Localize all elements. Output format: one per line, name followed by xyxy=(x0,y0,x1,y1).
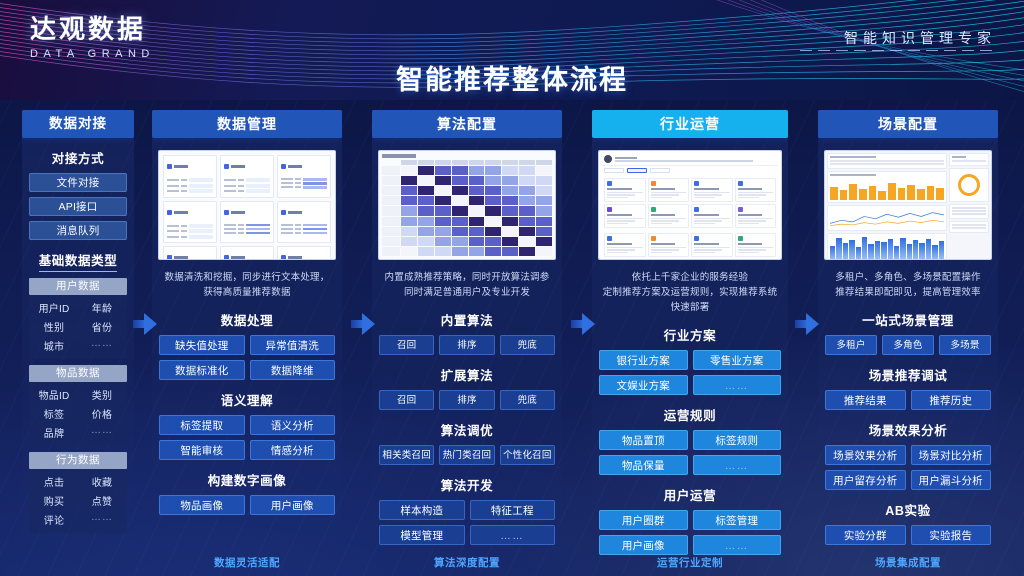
chip-user-funnel-analysis[interactable]: 用户漏斗分析 xyxy=(911,470,992,490)
group-title-scene-effect-analysis: 场景效果分析 xyxy=(818,420,998,439)
group-title-operation-rules: 运营规则 xyxy=(592,405,788,424)
column-header-data-docking: 数据对接 xyxy=(22,110,134,138)
chip-experiment-grouping[interactable]: 实验分群 xyxy=(825,525,906,545)
flow-column-algorithm-config: 算法配置 内置成熟推荐策略，同时开放算法调参同时满足普通用户及专业开发 内置算法… xyxy=(372,110,562,576)
mini-card xyxy=(220,155,274,198)
chip-recommendation-result[interactable]: 推荐结果 xyxy=(825,390,906,410)
chip-sample-construction[interactable]: 样本构造 xyxy=(379,500,465,520)
brand-tagline: 智能知识管理专家 xyxy=(844,28,996,48)
chip-multi-tenant[interactable]: 多租户 xyxy=(825,335,877,355)
field-behavior-click: 点击 xyxy=(31,474,77,489)
chip-group-operation-rules: 物品置顶 标签规则 物品保量 …… xyxy=(592,430,788,475)
field-behavior-purchase: 购买 xyxy=(31,493,77,508)
mini-heatmap-matrix xyxy=(379,151,555,259)
flow-arrow-4-icon xyxy=(795,313,819,335)
group-title-extended-algorithm: 扩展算法 xyxy=(372,365,562,384)
chip-builtin-fallback[interactable]: 兜底 xyxy=(500,335,555,355)
column-header-algorithm-config: 算法配置 xyxy=(372,110,562,138)
field-behavior-favorite: 收藏 xyxy=(79,474,125,489)
chip-group-recommendation-debug: 推荐结果 推荐历史 xyxy=(818,390,998,410)
chip-group-scene-effect-analysis: 场景效果分析 场景对比分析 用户留存分析 用户漏斗分析 xyxy=(818,445,998,490)
field-item-category: 类别 xyxy=(79,387,125,402)
chip-recommendation-history[interactable]: 推荐历史 xyxy=(911,390,992,410)
group-title-scene-recommendation-debug: 场景推荐调试 xyxy=(818,365,998,384)
mini-avatar-icon xyxy=(604,155,612,163)
chip-multi-scene[interactable]: 多场景 xyxy=(939,335,991,355)
mini-solution-card xyxy=(604,204,646,228)
field-user-id: 用户ID xyxy=(31,300,77,315)
field-item-price: 价格 xyxy=(79,406,125,421)
chip-tag-management[interactable]: 标签管理 xyxy=(693,510,782,530)
group-title-docking-method: 对接方式 xyxy=(22,148,134,167)
chip-group-user-operation: 用户圈群 标签管理 用户画像 …… xyxy=(592,510,788,555)
datatype-fields-item: 物品ID 类别 标签 价格 品牌 …… xyxy=(29,382,127,446)
group-title-algorithm-development: 算法开发 xyxy=(372,475,562,494)
chip-outlier-cleaning[interactable]: 异常值清洗 xyxy=(250,335,336,355)
mini-line-chart xyxy=(827,205,947,231)
mini-card xyxy=(277,201,331,244)
column-footer-algorithm-config: 算法深度配置 xyxy=(372,555,562,570)
field-behavior-comment: 评论 xyxy=(31,512,77,527)
flow-arrow-3-icon xyxy=(571,313,595,335)
column-header-industry-operation: 行业运营 xyxy=(592,110,788,138)
chip-scene-comparison-analysis[interactable]: 场景对比分析 xyxy=(911,445,992,465)
chip-related-recall[interactable]: 相关类召回 xyxy=(379,445,434,465)
flow-column-data-docking: 数据对接 对接方式 文件对接 API接口 消息队列 基础数据类型 用户数据 用户… xyxy=(22,110,134,576)
mini-card xyxy=(220,246,274,260)
group-title-one-stop-scene-management: 一站式场景管理 xyxy=(818,310,998,329)
chip-missing-value-handling[interactable]: 缺失值处理 xyxy=(159,335,245,355)
mini-solution-card xyxy=(648,178,690,202)
field-item-tag: 标签 xyxy=(31,406,77,421)
thumbnail-heatmap-screenshot xyxy=(378,150,556,260)
chip-semantic-analysis[interactable]: 语义分析 xyxy=(250,415,336,435)
group-title-digital-profile: 构建数字画像 xyxy=(152,470,342,489)
chip-entertainment-solution[interactable]: 文娱业方案 xyxy=(599,375,688,395)
chip-group-docking-method: 文件对接 API接口 消息队列 xyxy=(22,173,134,240)
column-header-data-management: 数据管理 xyxy=(152,110,342,138)
mini-solution-card xyxy=(691,233,733,257)
mini-card xyxy=(277,246,331,260)
column-header-scene-config: 场景配置 xyxy=(818,110,998,138)
field-item-id: 物品ID xyxy=(31,387,77,402)
mini-card xyxy=(277,155,331,198)
chip-group-algorithm-tuning: 相关类召回 热门类召回 个性化召回 xyxy=(372,445,562,465)
group-title-basic-data-type: 基础数据类型 xyxy=(39,250,118,272)
chip-user-op-more[interactable]: …… xyxy=(693,535,782,555)
group-title-data-processing: 数据处理 xyxy=(152,310,342,329)
chip-scene-effect-analysis[interactable]: 场景效果分析 xyxy=(825,445,906,465)
thumbnail-console-screenshot xyxy=(598,150,782,260)
brand-name-cn: 达观数据 xyxy=(30,14,155,44)
group-title-industry-solution: 行业方案 xyxy=(592,325,788,344)
datatype-header-behavior[interactable]: 行为数据 xyxy=(29,452,127,469)
chip-intelligent-review[interactable]: 智能审核 xyxy=(159,440,245,460)
field-user-more: …… xyxy=(79,338,125,353)
column-caption-industry-operation: 依托上千家企业的服务经验定制推荐方案及运营规则，实现推荐系统快速部署 xyxy=(600,270,780,315)
mini-solution-card xyxy=(735,233,777,257)
chip-builtin-ranking[interactable]: 排序 xyxy=(439,335,494,355)
chip-personalized-recall[interactable]: 个性化召回 xyxy=(500,445,555,465)
field-user-province: 省份 xyxy=(79,319,125,334)
chip-extended-recall[interactable]: 召回 xyxy=(379,390,434,410)
field-user-age: 年龄 xyxy=(79,300,125,315)
mini-solution-card xyxy=(691,204,733,228)
chip-extended-ranking[interactable]: 排序 xyxy=(439,390,494,410)
mini-console xyxy=(599,151,781,259)
group-title-semantic-understanding: 语义理解 xyxy=(152,390,342,409)
mini-card xyxy=(163,201,217,244)
chip-sentiment-analysis[interactable]: 情感分析 xyxy=(250,440,336,460)
chip-banking-solution[interactable]: 银行业方案 xyxy=(599,350,688,370)
mini-solution-card xyxy=(604,233,646,257)
mini-solution-card xyxy=(735,204,777,228)
chip-industry-more[interactable]: …… xyxy=(693,375,782,395)
field-behavior-like: 点赞 xyxy=(79,493,125,508)
chip-builtin-recall[interactable]: 召回 xyxy=(379,335,434,355)
flow-stage: 数据对接 对接方式 文件对接 API接口 消息队列 基础数据类型 用户数据 用户… xyxy=(0,110,1024,576)
chip-group-extended-algorithm: 召回 排序 兜底 xyxy=(372,390,562,410)
flow-column-industry-operation: 行业运营 依托上千家企业的服务经验定制推荐方案及运营规则，实现推荐系统快速部署 … xyxy=(592,110,788,576)
chip-experiment-report[interactable]: 实验报告 xyxy=(911,525,992,545)
mini-dashboard xyxy=(825,151,991,259)
mini-solution-card xyxy=(648,204,690,228)
chip-popular-recall[interactable]: 热门类召回 xyxy=(439,445,494,465)
mini-donut-chart xyxy=(958,174,980,196)
chip-group-digital-profile: 物品画像 用户画像 xyxy=(152,495,342,515)
field-user-city: 城市 xyxy=(31,338,77,353)
chip-group-ab-test: 实验分群 实验报告 xyxy=(818,525,998,545)
group-title-ab-test: AB实验 xyxy=(818,500,998,519)
column-caption-data-management: 数据清洗和挖掘，同步进行文本处理，获得高质量推荐数据 xyxy=(160,270,334,300)
chip-item-pinning[interactable]: 物品置顶 xyxy=(599,430,688,450)
field-item-brand: 品牌 xyxy=(31,425,77,440)
field-item-more: …… xyxy=(79,425,125,440)
datatype-header-user[interactable]: 用户数据 xyxy=(29,278,127,295)
chip-multi-role[interactable]: 多角色 xyxy=(882,335,934,355)
datatype-header-item[interactable]: 物品数据 xyxy=(29,365,127,382)
chip-user-grouping[interactable]: 用户圈群 xyxy=(599,510,688,530)
datatype-fields-behavior: 点击 收藏 购买 点赞 评论 …… xyxy=(29,469,127,533)
group-title-builtin-algorithm: 内置算法 xyxy=(372,310,562,329)
chip-model-management[interactable]: 模型管理 xyxy=(379,525,465,545)
chip-extended-fallback[interactable]: 兜底 xyxy=(500,390,555,410)
chip-message-queue[interactable]: 消息队列 xyxy=(29,221,127,240)
column-footer-scene-config: 场景集成配置 xyxy=(818,555,998,570)
flow-column-data-management: 数据管理 xyxy=(152,110,342,576)
thumbnail-dashboard-screenshot xyxy=(824,150,992,260)
chip-api-interface[interactable]: API接口 xyxy=(29,197,127,216)
mini-card xyxy=(163,155,217,198)
chip-group-algorithm-development: 样本构造 特征工程 模型管理 …… xyxy=(372,500,562,545)
chip-feature-engineering[interactable]: 特征工程 xyxy=(470,500,556,520)
chip-user-profile[interactable]: 用户画像 xyxy=(250,495,336,515)
column-footer-data-management: 数据灵活适配 xyxy=(152,555,342,570)
mini-card xyxy=(163,246,217,260)
brand-logo: 达观数据 DATA GRAND xyxy=(30,14,155,60)
chip-tag-extraction[interactable]: 标签提取 xyxy=(159,415,245,435)
chip-group-data-processing: 缺失值处理 异常值清洗 数据标准化 数据降维 xyxy=(152,335,342,380)
mini-solution-card xyxy=(648,233,690,257)
column-caption-algorithm-config: 内置成熟推荐策略，同时开放算法调参同时满足普通用户及专业开发 xyxy=(380,270,554,300)
datatype-fields-user: 用户ID 年龄 性别 省份 城市 …… xyxy=(29,295,127,359)
chip-group-semantic-understanding: 标签提取 语义分析 智能审核 情感分析 xyxy=(152,415,342,460)
flow-arrow-1-icon xyxy=(133,313,157,335)
page-title: 智能推荐整体流程 xyxy=(0,58,1024,97)
flow-arrow-2-icon xyxy=(351,313,375,335)
flow-column-scene-config: 场景配置 xyxy=(818,110,998,576)
mini-solution-card xyxy=(691,178,733,202)
field-user-gender: 性别 xyxy=(31,319,77,334)
tagline-underline-decoration xyxy=(800,50,996,51)
chip-group-scene-management: 多租户 多角色 多场景 xyxy=(818,335,998,355)
chip-data-standardization[interactable]: 数据标准化 xyxy=(159,360,245,380)
column-footer-industry-operation: 运营行业定制 xyxy=(592,555,788,570)
column-caption-scene-config: 多租户、多角色、多场景配置操作推荐结果即配即见，提高管理效率 xyxy=(826,270,990,300)
thumbnail-card-grid-screenshot xyxy=(158,150,336,260)
chip-tag-rules[interactable]: 标签规则 xyxy=(693,430,782,450)
chip-dimensionality-reduction[interactable]: 数据降维 xyxy=(250,360,336,380)
chip-algorithm-more[interactable]: …… xyxy=(470,525,556,545)
chip-file-docking[interactable]: 文件对接 xyxy=(29,173,127,192)
mini-card-grid xyxy=(159,151,335,259)
mini-solution-card xyxy=(735,178,777,202)
chip-retail-solution[interactable]: 零售业方案 xyxy=(693,350,782,370)
chip-user-retention-analysis[interactable]: 用户留存分析 xyxy=(825,470,906,490)
chip-group-industry-solution: 银行业方案 零售业方案 文娱业方案 …… xyxy=(592,350,788,395)
mini-solution-card xyxy=(604,178,646,202)
chip-user-portrait[interactable]: 用户画像 xyxy=(599,535,688,555)
chip-group-builtin-algorithm: 召回 排序 兜底 xyxy=(372,335,562,355)
chip-item-profile[interactable]: 物品画像 xyxy=(159,495,245,515)
group-title-user-operation: 用户运营 xyxy=(592,485,788,504)
chip-rules-more[interactable]: …… xyxy=(693,455,782,475)
mini-card xyxy=(220,201,274,244)
chip-item-guarantee[interactable]: 物品保量 xyxy=(599,455,688,475)
field-behavior-more: …… xyxy=(79,512,125,527)
group-title-algorithm-tuning: 算法调优 xyxy=(372,420,562,439)
